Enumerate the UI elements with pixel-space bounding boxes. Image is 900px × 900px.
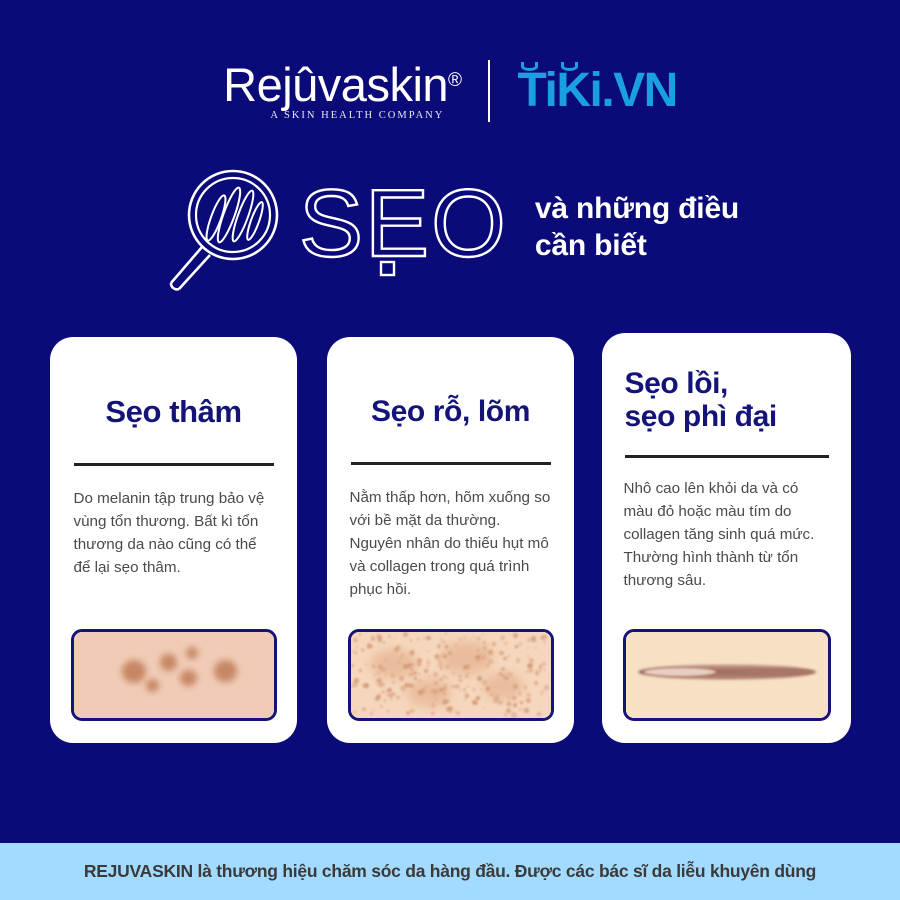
card-title: Sẹo thâm [105, 395, 241, 429]
card-divider [625, 455, 829, 458]
keloid-scar-photo [623, 629, 831, 721]
card-body-text: Nằm thấp hơn, hõm xuống so với bề mặt da… [350, 486, 552, 601]
card-title: Sẹo rỗ, lõm [371, 395, 530, 428]
footer-text: REJUVASKIN là thương hiệu chăm sóc da hà… [84, 861, 816, 882]
card-body-text: Nhô cao lên khỏi da và có màu đỏ hoặc mà… [624, 477, 830, 592]
card-seo-ro-lom[interactable]: Sẹo rỗ, lõm Nằm thấp hơn, hõm xuống so v… [327, 337, 574, 743]
dark-spot-skin-photo [71, 629, 277, 721]
card-seo-loi-phi-dai[interactable]: Sẹo lồi, sẹo phì đại Nhô cao lên khỏi da… [602, 333, 851, 743]
scar-type-cards: Sẹo thâm Do melanin tập trung bảo vệ vùn… [0, 0, 900, 900]
card-title: Sẹo lồi, sẹo phì đại [625, 367, 829, 433]
card-divider [74, 463, 274, 466]
card-divider [351, 462, 551, 465]
card-body-text: Do melanin tập trung bảo vệ vùng tổn thư… [74, 487, 274, 579]
pitted-skin-photo [348, 629, 554, 721]
footer-banner: REJUVASKIN là thương hiệu chăm sóc da hà… [0, 843, 900, 900]
card-title-line1: Sẹo lồi, [625, 367, 829, 400]
card-seo-tham[interactable]: Sẹo thâm Do melanin tập trung bảo vệ vùn… [50, 337, 297, 743]
card-title-line2: sẹo phì đại [625, 400, 829, 433]
